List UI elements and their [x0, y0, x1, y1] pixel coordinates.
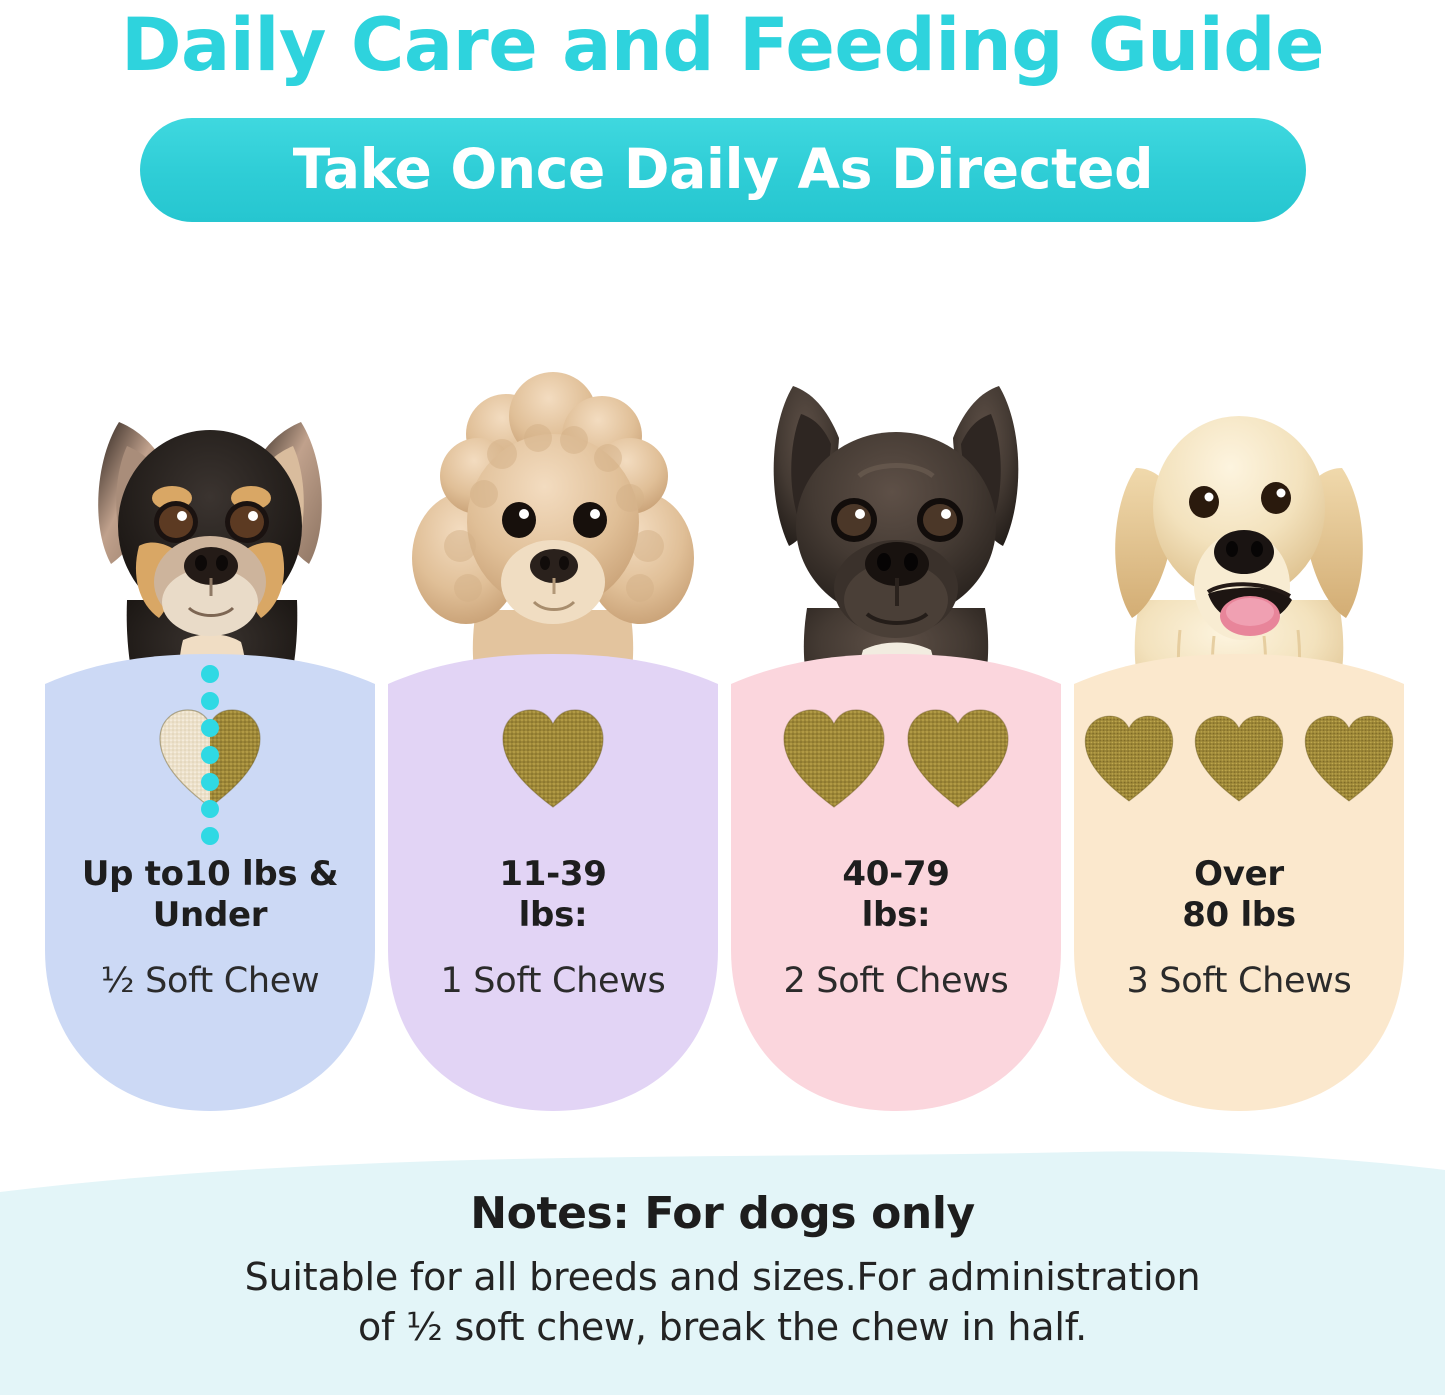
dose-label: ½ Soft Chew	[101, 960, 320, 1002]
weight-range-label: 11-39 lbs:	[499, 854, 606, 936]
notes-body: Suitable for all breeds and sizes.For ad…	[0, 1252, 1445, 1352]
directions-badge-label: Take Once Daily As Directed	[293, 137, 1153, 201]
notes-section: Notes: For dogs only Suitable for all br…	[0, 1130, 1445, 1395]
weight-range-label: 40-79 lbs:	[842, 854, 949, 936]
dose-label: 3 Soft Chews	[1127, 960, 1352, 1002]
dose-label: 1 Soft Chews	[441, 960, 666, 1002]
chew-heart-icon	[1080, 710, 1178, 808]
chew-group	[154, 698, 266, 820]
dosage-card: 11-39 lbs: 1 Soft Chews	[388, 300, 718, 1120]
dosage-card: Over 80 lbs 3 Soft Chews	[1074, 300, 1404, 1120]
dose-label: 2 Soft Chews	[784, 960, 1009, 1002]
chew-heart-icon	[497, 703, 609, 815]
chew-group	[1080, 698, 1398, 820]
notes-title: Notes: For dogs only	[0, 1188, 1445, 1240]
directions-badge: Take Once Daily As Directed	[140, 118, 1306, 222]
weight-range-label: Up to10 lbs & Under	[82, 854, 338, 936]
chew-heart-icon	[902, 703, 1014, 815]
chew-heart-icon	[1300, 710, 1398, 808]
dosage-panel: Over 80 lbs 3 Soft Chews	[1074, 650, 1404, 1115]
chew-heart-icon	[1190, 710, 1288, 808]
weight-range-label: Over 80 lbs	[1182, 854, 1296, 936]
dosage-panel: 40-79 lbs: 2 Soft Chews	[731, 650, 1061, 1115]
dosage-card-row: Up to10 lbs & Under ½ Soft Chew	[45, 300, 1405, 1120]
dosage-card: 40-79 lbs: 2 Soft Chews	[731, 300, 1061, 1120]
chew-group	[497, 698, 609, 820]
infographic-root: Daily Care and Feeding Guide Take Once D…	[0, 0, 1445, 1395]
page-title: Daily Care and Feeding Guide	[0, 4, 1445, 88]
dosage-card: Up to10 lbs & Under ½ Soft Chew	[45, 300, 375, 1120]
chew-heart-icon	[778, 703, 890, 815]
dosage-panel: 11-39 lbs: 1 Soft Chews	[388, 650, 718, 1115]
chew-group	[778, 698, 1014, 820]
break-line-dots-icon	[199, 664, 221, 854]
dosage-panel: Up to10 lbs & Under ½ Soft Chew	[45, 650, 375, 1115]
